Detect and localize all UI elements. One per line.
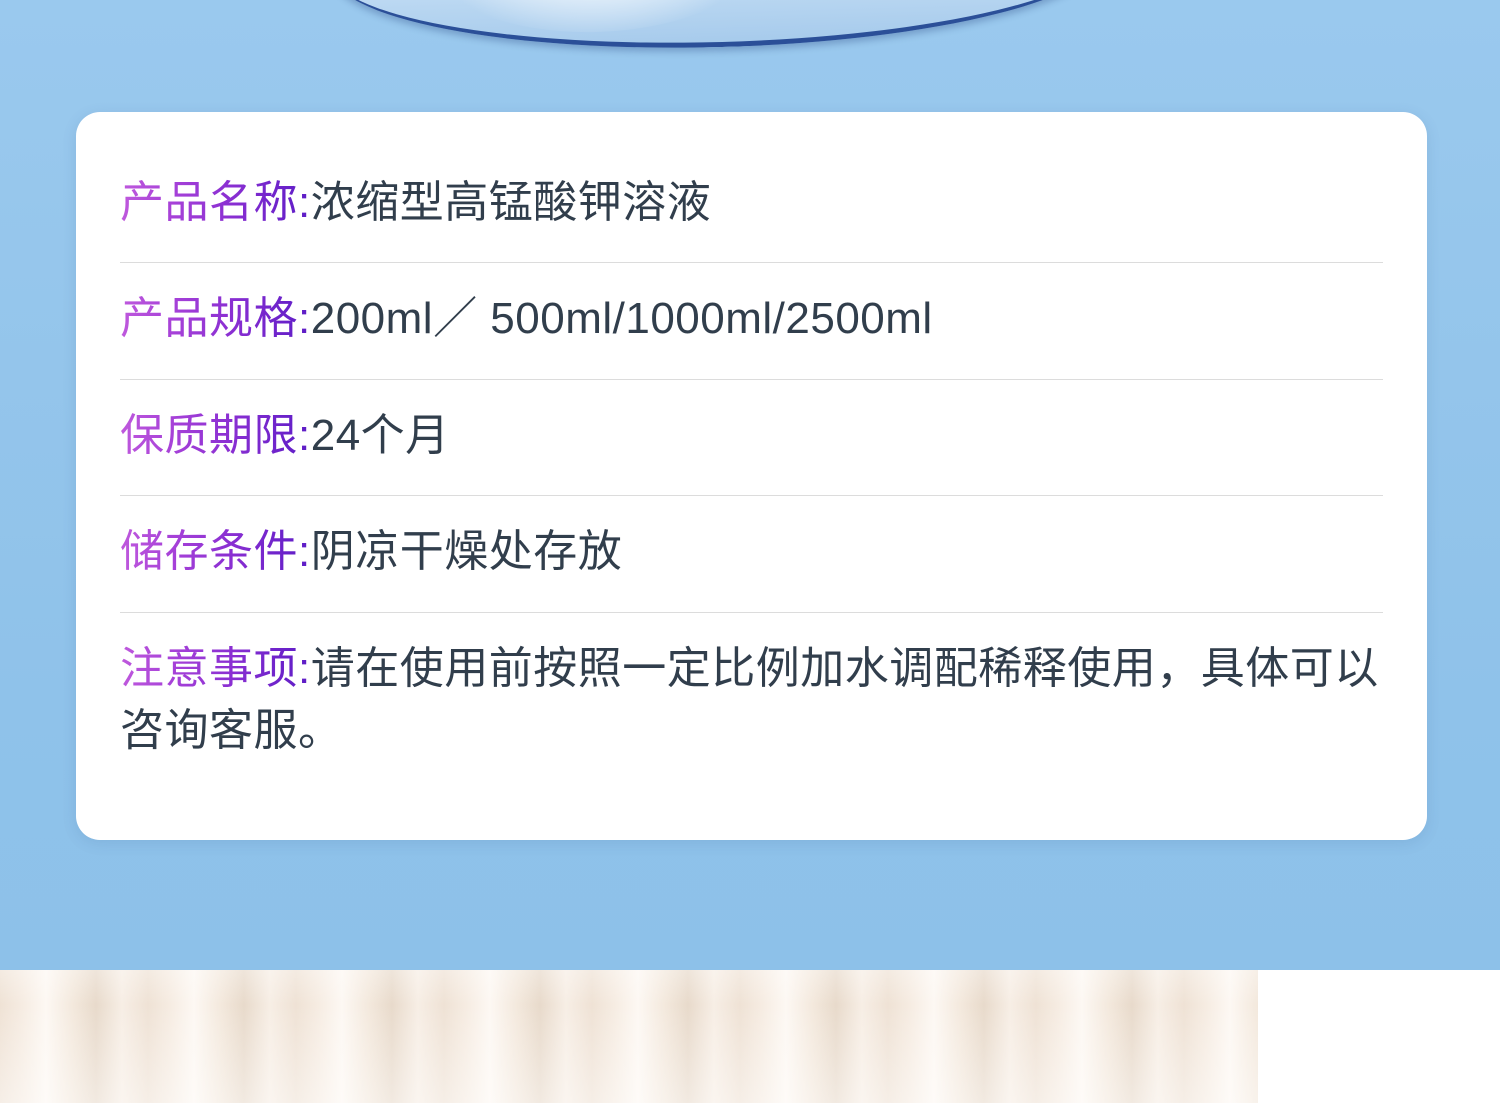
spec-value-shelf-life: 24个月 bbox=[311, 411, 450, 460]
spec-value-product-name: 浓缩型高锰酸钾溶液 bbox=[311, 178, 712, 227]
spec-label-product-size: 产品规格: bbox=[120, 294, 311, 343]
spec-label-notes: 注意事项: bbox=[120, 644, 311, 693]
spec-row-storage: 储存条件:阴凉干燥处存放 bbox=[120, 495, 1383, 611]
spec-row-notes: 注意事项:请在使用前按照一定比例加水调配稀释使用，具体可以咨询客服。 bbox=[120, 612, 1383, 769]
spec-row-product-size: 产品规格:200ml／ 500ml/1000ml/2500ml bbox=[120, 262, 1383, 378]
vertical-stripe-texture bbox=[0, 970, 1258, 1103]
spec-label-shelf-life: 保质期限: bbox=[120, 411, 311, 460]
spec-label-product-name: 产品名称: bbox=[120, 178, 311, 227]
bottle-bottom-arc-graphic bbox=[328, 0, 1113, 58]
spec-value-storage: 阴凉干燥处存放 bbox=[311, 527, 623, 576]
product-detail-page: 产品名称:浓缩型高锰酸钾溶液 产品规格:200ml／ 500ml/1000ml/… bbox=[0, 0, 1500, 1103]
spec-line: 产品规格:200ml／ 500ml/1000ml/2500ml bbox=[120, 288, 1383, 350]
bottom-texture-band bbox=[0, 970, 1500, 1103]
spec-row-product-name: 产品名称:浓缩型高锰酸钾溶液 bbox=[120, 172, 1383, 262]
spec-line: 储存条件:阴凉干燥处存放 bbox=[120, 521, 1383, 583]
spec-line: 保质期限:24个月 bbox=[120, 405, 1383, 467]
spec-label-storage: 储存条件: bbox=[120, 527, 311, 576]
product-spec-card: 产品名称:浓缩型高锰酸钾溶液 产品规格:200ml／ 500ml/1000ml/… bbox=[76, 112, 1427, 840]
spec-line: 注意事项:请在使用前按照一定比例加水调配稀释使用，具体可以咨询客服。 bbox=[120, 638, 1383, 763]
spec-row-shelf-life: 保质期限:24个月 bbox=[120, 379, 1383, 495]
spec-line: 产品名称:浓缩型高锰酸钾溶液 bbox=[120, 172, 1383, 234]
product-spec-list: 产品名称:浓缩型高锰酸钾溶液 产品规格:200ml／ 500ml/1000ml/… bbox=[120, 172, 1383, 769]
spec-value-product-size: 200ml／ 500ml/1000ml/2500ml bbox=[311, 294, 933, 343]
stripe-fade-overlay bbox=[1350, 970, 1500, 1103]
